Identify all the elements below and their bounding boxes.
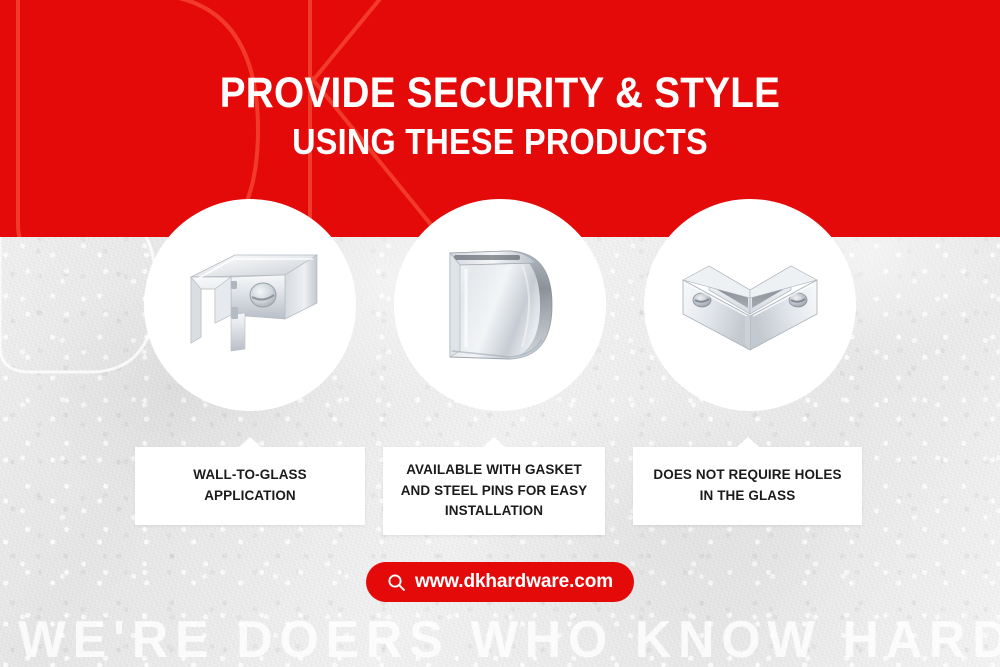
product-circle-d-shape-glass-clamp[interactable] <box>394 199 606 411</box>
product-caption-1: WALL-TO-GLASS APPLICATION <box>135 447 365 525</box>
website-url-label: www.dkhardware.com <box>415 571 613 593</box>
corner-glass-connector-image <box>675 242 825 368</box>
product-caption-3: DOES NOT REQUIRE HOLES IN THE GLASS <box>633 447 862 525</box>
headline-line-2: USING THESE PRODUCTS <box>50 124 950 160</box>
caption-text: WALL-TO-GLASS APPLICATION <box>149 465 351 506</box>
headline: PROVIDE SECURITY & STYLE USING THESE PRO… <box>0 72 1000 160</box>
caption-text: DOES NOT REQUIRE HOLES IN THE GLASS <box>647 465 848 506</box>
headline-line-1: PROVIDE SECURITY & STYLE <box>50 72 950 115</box>
product-caption-2: AVAILABLE WITH GASKET AND STEEL PINS FOR… <box>383 447 605 535</box>
brand-tagline-watermark: WE'RE DOERS WHO KNOW HARDWARE <box>0 614 1000 667</box>
website-url-button[interactable]: www.dkhardware.com <box>366 562 634 602</box>
product-circle-90-degree-glass-connector[interactable] <box>644 199 856 411</box>
d-shape-glass-clamp-image <box>436 239 564 371</box>
caption-text: AVAILABLE WITH GASKET AND STEEL PINS FOR… <box>397 460 591 522</box>
wall-to-glass-clamp-image <box>175 245 325 365</box>
promo-banner: PROVIDE SECURITY & STYLE USING THESE PRO… <box>0 0 1000 667</box>
tagline-text: WE'RE DOERS WHO KNOW HARDWARE <box>18 614 1000 666</box>
product-circle-wall-to-glass-clamp[interactable] <box>144 199 356 411</box>
search-icon <box>387 573 406 592</box>
